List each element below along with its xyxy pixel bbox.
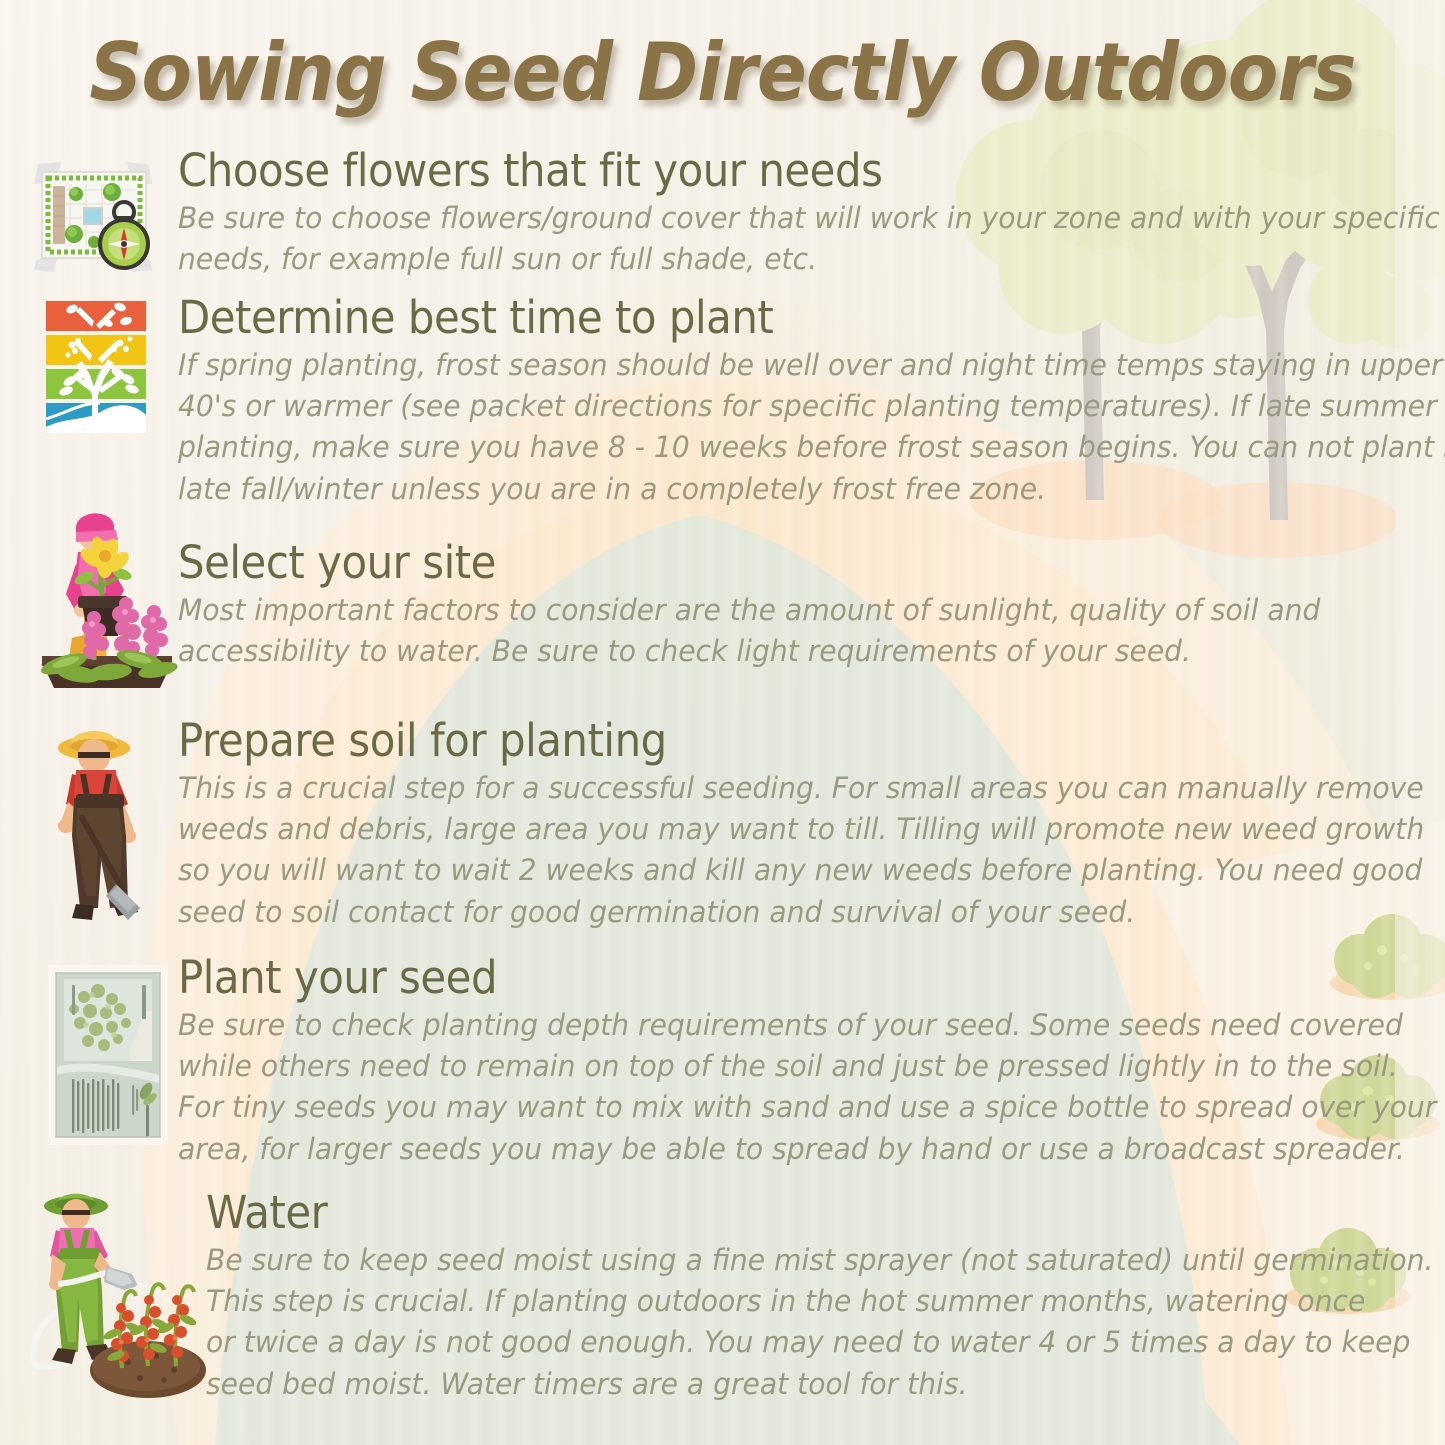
step-body: This is a crucial step for a successful … [178, 768, 1391, 933]
step-heading: Select your site [178, 540, 1359, 586]
step-heading: Water [206, 1190, 1369, 1236]
gardener-with-potted-flower-icon [32, 494, 182, 694]
step-heading: Prepare soil for planting [178, 718, 1359, 764]
step-body: Most important factors to consider are t… [178, 590, 1391, 673]
step-body: Be sure to choose flowers/ground cover t… [178, 198, 1391, 281]
step-water: Water Be sure to keep seed moist using a… [28, 1190, 1428, 1420]
gardener-watering-plants-icon [28, 1190, 208, 1405]
four-seasons-tree-icon [42, 299, 158, 439]
farmer-with-shovel-icon [36, 718, 176, 928]
step-body: Be sure to keep seed moist using a fine … [206, 1240, 1400, 1405]
step-heading: Plant your seed [178, 955, 1359, 1001]
step-select-site: Select your site Most important factors … [28, 540, 1428, 690]
page-title: Sowing Seed Directly Outdoors [58, 26, 1387, 119]
step-plant-seed: Plant your seed Be sure to check plantin… [28, 955, 1428, 1170]
step-choose-flowers: Choose flowers that fit your needs Be su… [28, 148, 1428, 288]
step-heading: Determine best time to plant [178, 295, 1359, 341]
step-prepare-soil: Prepare soil for planting This is a cruc… [28, 718, 1428, 933]
step-body: Be sure to check planting depth requirem… [178, 1005, 1391, 1170]
garden-plan-compass-icon [28, 156, 158, 276]
step-body: If spring planting, frost season should … [178, 345, 1391, 510]
infographic-poster: Sowing Seed Directly Outdoors [0, 0, 1445, 1445]
seed-packet-icon [46, 963, 170, 1147]
step-heading: Choose flowers that fit your needs [178, 148, 1359, 194]
step-determine-time: Determine best time to plant If spring p… [28, 295, 1428, 510]
